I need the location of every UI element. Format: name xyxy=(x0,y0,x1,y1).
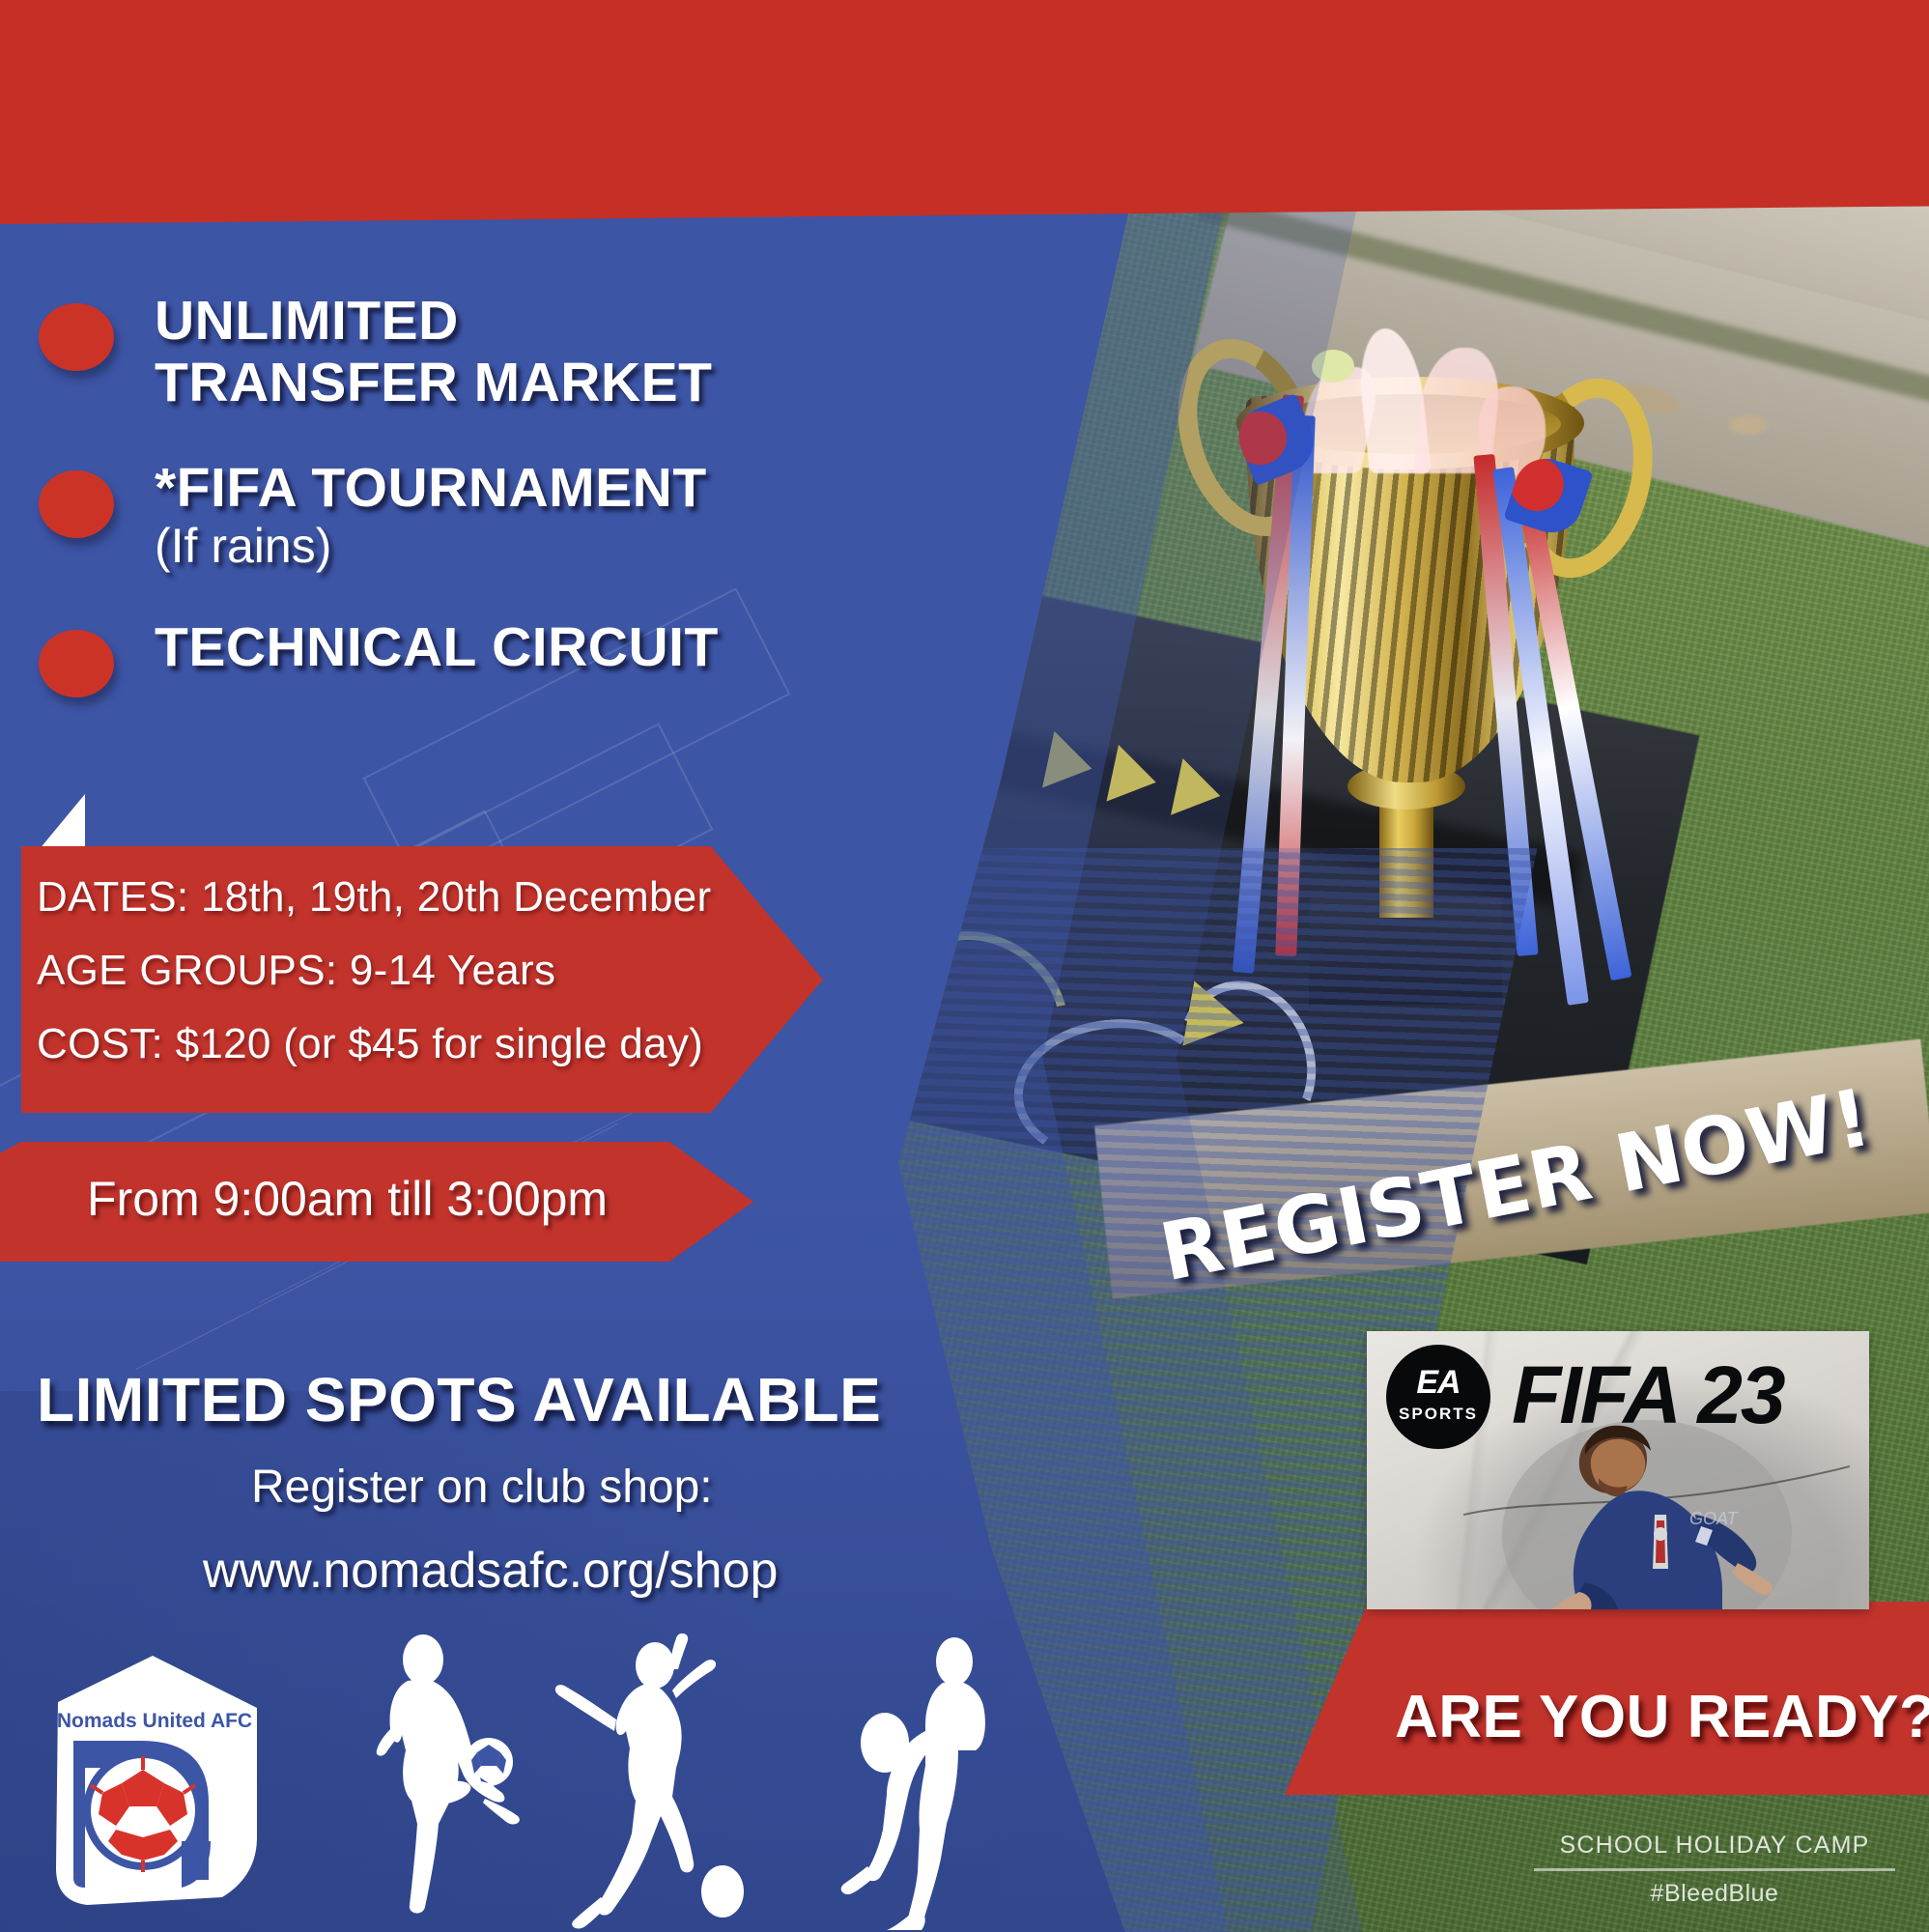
detail-dates: DATES: 18th, 19th, 20th December xyxy=(37,873,711,922)
feature-line-1: UNLIMITED xyxy=(155,290,459,352)
feature-line-1: *FIFA TOURNAMENT xyxy=(155,457,707,519)
detail-age-groups: AGE GROUPS: 9-14 Years xyxy=(37,947,711,995)
shop-url[interactable]: www.nomadsafc.org/shop xyxy=(203,1542,778,1600)
club-logo: Nomads United AFC xyxy=(29,1648,280,1909)
bullet-dot-icon xyxy=(39,630,114,697)
bullet-dot-icon xyxy=(39,303,114,371)
feature-note: (If rains) xyxy=(155,519,707,574)
svg-text:GOAT: GOAT xyxy=(1689,1509,1740,1528)
list-item: *FIFA TOURNAMENT (If rains) xyxy=(0,457,719,574)
ea-sports-text: SPORTS xyxy=(1386,1405,1490,1424)
fifa-23-cover: GOAT EA SPORTS FIFA 23 xyxy=(1367,1331,1869,1609)
feature-list: UNLIMITED TRANSFER MARKET *FIFA TOURNAME… xyxy=(0,290,719,740)
bullet-dot-icon xyxy=(39,470,114,538)
ea-text: EA xyxy=(1386,1364,1490,1402)
player-silhouettes xyxy=(357,1631,995,1932)
register-instruction: Register on club shop: xyxy=(251,1461,713,1514)
dirt-patch xyxy=(1729,415,1768,435)
footer-hashtag: #BleedBlue xyxy=(1517,1880,1913,1908)
header-band xyxy=(0,0,1929,224)
player-knee-touch-silhouette xyxy=(841,1637,985,1930)
details-banner: DATES: 18th, 19th, 20th December AGE GRO… xyxy=(21,846,823,1113)
feature-label: *FIFA TOURNAMENT (If rains) xyxy=(155,457,707,574)
club-crest-icon: Nomads United AFC xyxy=(29,1648,280,1909)
footer-divider xyxy=(1534,1868,1895,1871)
feature-line-2: TRANSFER MARKET xyxy=(155,352,712,413)
ea-sports-logo-icon: EA SPORTS xyxy=(1386,1345,1490,1449)
poster-root: SCHOOL HOLIDAY PROGRAMME #OPEN FOR ALL A… xyxy=(0,0,1929,1932)
are-you-ready-text: ARE YOU READY? xyxy=(1395,1683,1929,1751)
fifa-title: FIFA 23 xyxy=(1512,1349,1784,1442)
club-name-text: Nomads United AFC xyxy=(57,1710,252,1732)
list-item: UNLIMITED TRANSFER MARKET xyxy=(0,290,719,414)
feature-label: UNLIMITED TRANSFER MARKET xyxy=(155,290,712,414)
feature-label: TECHNICAL CIRCUIT xyxy=(155,616,719,678)
player-dribbling-silhouette xyxy=(555,1634,744,1929)
footer-title: SCHOOL HOLIDAY CAMP xyxy=(1517,1832,1913,1860)
list-item: TECHNICAL CIRCUIT xyxy=(0,616,719,697)
detail-cost: COST: $120 (or $45 for single day) xyxy=(37,1020,711,1068)
limited-spots-heading: LIMITED SPOTS AVAILABLE xyxy=(37,1364,881,1435)
soccer-ball-icon xyxy=(465,1738,513,1786)
feature-line-1: TECHNICAL CIRCUIT xyxy=(155,616,719,678)
detail-time: From 9:00am till 3:00pm xyxy=(87,1171,608,1227)
footer: SCHOOL HOLIDAY CAMP #BleedBlue xyxy=(1517,1832,1913,1908)
